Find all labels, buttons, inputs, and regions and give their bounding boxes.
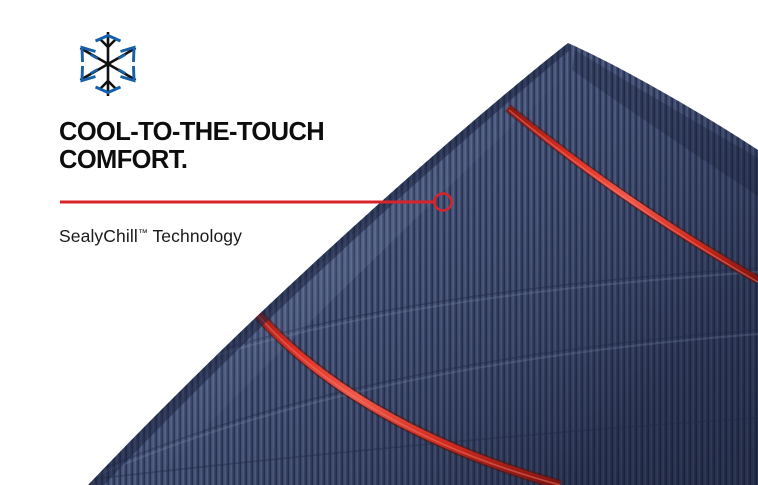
headline-line-1: COOL-TO-THE-TOUCH	[59, 118, 389, 146]
snowflake-icon	[72, 28, 144, 100]
snowflake-spokes	[80, 32, 135, 96]
promo-banner: COOL-TO-THE-TOUCH COMFORT. SealyChill™ T…	[0, 0, 758, 485]
headline-line-2: COMFORT.	[59, 146, 389, 174]
page-title: COOL-TO-THE-TOUCH COMFORT.	[59, 118, 389, 174]
subhead: SealyChill™ Technology	[59, 226, 242, 247]
subhead-brand: SealyChill	[59, 226, 138, 246]
snowflake-glyph	[72, 28, 144, 100]
trademark-symbol: ™	[138, 228, 148, 239]
subhead-suffix: Technology	[148, 226, 242, 246]
